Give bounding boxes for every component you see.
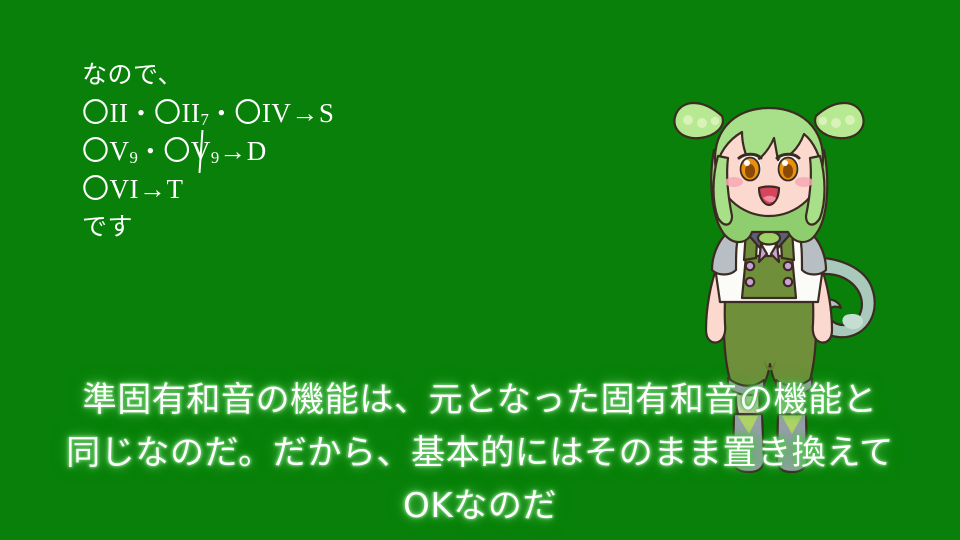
subtitle-line-2: 同じなのだ。だから、基本的にはそのまま置き換えて bbox=[0, 427, 960, 480]
note-line-1: なので、 bbox=[82, 56, 602, 94]
note-separator-1: ・ bbox=[128, 99, 154, 128]
overall-button-4 bbox=[784, 278, 792, 286]
note-numeral-v-barred: V bbox=[191, 132, 211, 170]
slide-canvas: なので、 〇II・〇II7・〇IV→S 〇V9・〇V9→D 〇VI→T です bbox=[0, 0, 960, 540]
overall-button-1 bbox=[746, 262, 754, 270]
note-circle-icon-3: 〇 bbox=[234, 98, 262, 128]
overall-button-3 bbox=[784, 262, 792, 270]
note-subscript-7: 7 bbox=[200, 110, 208, 129]
pod-bead-l2 bbox=[697, 118, 707, 128]
note-numeral-v: V bbox=[110, 136, 130, 166]
pod-bead-r3 bbox=[819, 117, 827, 125]
note-text-block: なので、 〇II・〇II7・〇IV→S 〇V9・〇V9→D 〇VI→T です bbox=[82, 56, 602, 246]
overall-button-2 bbox=[746, 278, 754, 286]
pod-bead-l1 bbox=[683, 115, 693, 125]
subtitle-line-3: OKなのだ bbox=[0, 480, 960, 533]
note-target-s: S bbox=[319, 98, 335, 128]
note-circle-icon-6: 〇 bbox=[82, 174, 110, 204]
note-target-d: D bbox=[247, 136, 267, 166]
pod-bead-r2 bbox=[831, 118, 841, 128]
subtitle-line-1: 準固有和音の機能は、元となった固有和音の機能と bbox=[0, 374, 960, 427]
note-numeral-vi: VI bbox=[110, 174, 140, 204]
note-circle-icon-5: 〇 bbox=[163, 136, 191, 166]
note-numeral-iv: IV bbox=[262, 98, 292, 128]
note-circle-icon-4: 〇 bbox=[82, 136, 110, 166]
note-line-5: です bbox=[82, 208, 602, 246]
eye-highlight-right bbox=[782, 160, 788, 166]
note-subscript-9: 9 bbox=[130, 148, 138, 167]
blush-right bbox=[795, 177, 813, 187]
note-arrow-icon-1: → bbox=[291, 98, 319, 128]
pod-bead-r1 bbox=[845, 115, 855, 125]
pod-bead-l3 bbox=[711, 117, 719, 125]
eye-highlight-left bbox=[744, 160, 750, 166]
note-numeral-ii: II bbox=[110, 98, 129, 128]
note-target-t: T bbox=[167, 174, 184, 204]
note-subscript-9-2: 9 bbox=[211, 148, 219, 167]
note-circle-icon: 〇 bbox=[82, 98, 110, 128]
pupil-left bbox=[745, 164, 755, 178]
subtitle-block: 準固有和音の機能は、元となった固有和音の機能と 同じなのだ。だから、基本的にはそ… bbox=[0, 374, 960, 533]
note-circle-icon-2: 〇 bbox=[154, 98, 182, 128]
note-arrow-icon-3: → bbox=[139, 174, 167, 204]
note-numeral-ii-2: II bbox=[182, 98, 201, 128]
note-separator-3: ・ bbox=[138, 137, 164, 166]
note-line-2: 〇II・〇II7・〇IV→S bbox=[82, 94, 602, 132]
brooch-icon bbox=[758, 232, 780, 245]
blush-left bbox=[725, 177, 743, 187]
note-arrow-icon-2: → bbox=[219, 136, 247, 166]
note-line-4: 〇VI→T bbox=[82, 170, 602, 208]
pupil-right bbox=[783, 164, 793, 178]
note-separator-2: ・ bbox=[209, 99, 235, 128]
note-line-3: 〇V9・〇V9→D bbox=[82, 132, 602, 170]
